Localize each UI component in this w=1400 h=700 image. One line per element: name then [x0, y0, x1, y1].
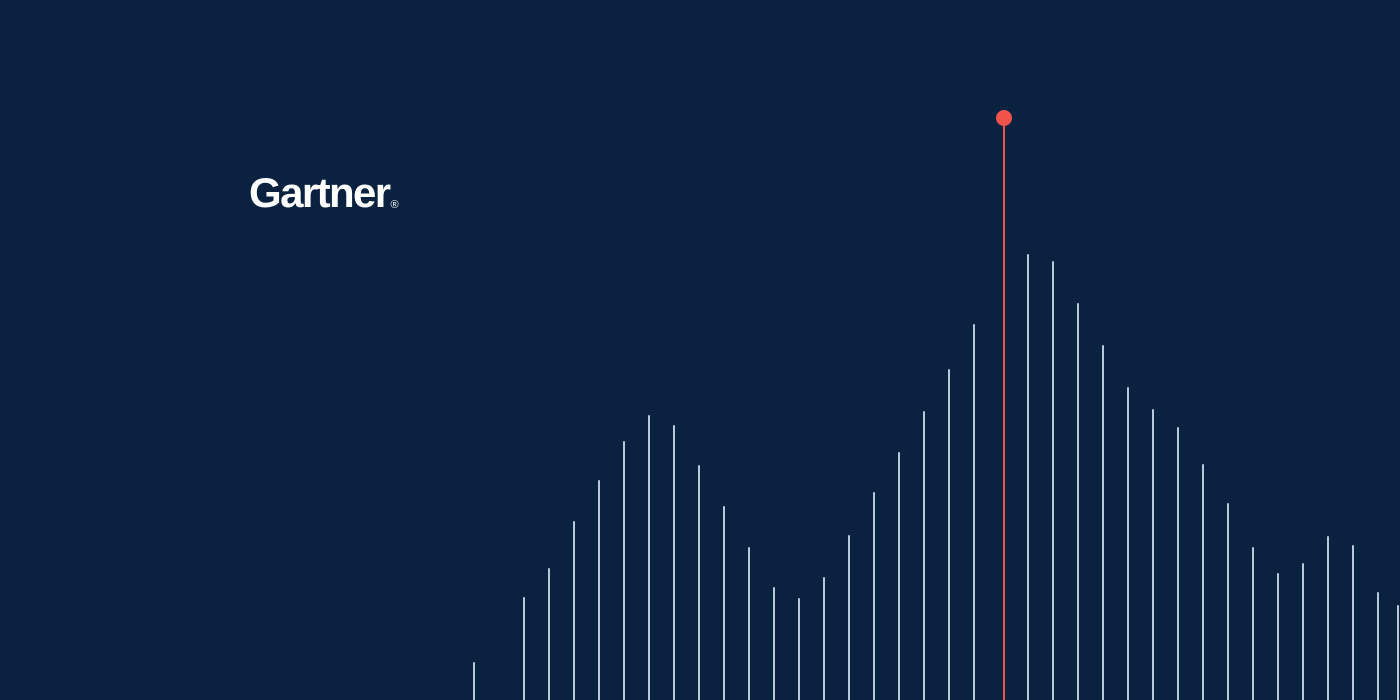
- chart-bar: [1227, 503, 1229, 700]
- chart-bar: [523, 597, 525, 700]
- chart-bar: [1377, 592, 1379, 700]
- chart-bar: [1052, 261, 1054, 700]
- highlight-bar: [1003, 118, 1005, 700]
- chart-bar: [948, 369, 950, 700]
- chart-bar: [923, 411, 925, 700]
- chart-bar: [548, 568, 550, 700]
- chart-bar: [823, 577, 825, 700]
- chart-bar: [1327, 536, 1329, 700]
- chart-bar: [573, 521, 575, 700]
- chart-bar: [973, 324, 975, 700]
- chart-bar: [1127, 387, 1129, 700]
- highlight-marker-dot: [996, 110, 1012, 126]
- chart-bar: [773, 587, 775, 700]
- chart-bar: [873, 492, 875, 700]
- chart-bar: [673, 425, 675, 700]
- chart-bar: [598, 480, 600, 700]
- chart-bar: [473, 662, 475, 700]
- chart-bar: [1252, 547, 1254, 700]
- chart-bar: [1152, 409, 1154, 700]
- poster-canvas: Gartner ®: [0, 0, 1400, 700]
- chart-bar: [648, 415, 650, 700]
- chart-bar: [1027, 254, 1029, 700]
- gartner-wordmark: Gartner: [249, 172, 390, 214]
- registered-trademark-icon: ®: [391, 200, 399, 211]
- chart-bar: [1397, 605, 1399, 700]
- chart-bar: [798, 598, 800, 700]
- chart-bar: [1302, 563, 1304, 700]
- chart-bar: [748, 547, 750, 700]
- chart-bar: [698, 465, 700, 700]
- chart-bar: [1102, 345, 1104, 700]
- chart-bar: [898, 452, 900, 700]
- chart-bar: [723, 506, 725, 700]
- chart-bar: [848, 535, 850, 700]
- chart-bar: [1277, 573, 1279, 700]
- chart-bar: [1077, 303, 1079, 700]
- chart-bar: [1177, 427, 1179, 700]
- chart-bar: [1202, 464, 1204, 700]
- chart-bar: [1352, 545, 1354, 700]
- bar-chart: [0, 0, 1400, 700]
- gartner-logo: Gartner ®: [249, 172, 399, 214]
- chart-bar: [623, 441, 625, 700]
